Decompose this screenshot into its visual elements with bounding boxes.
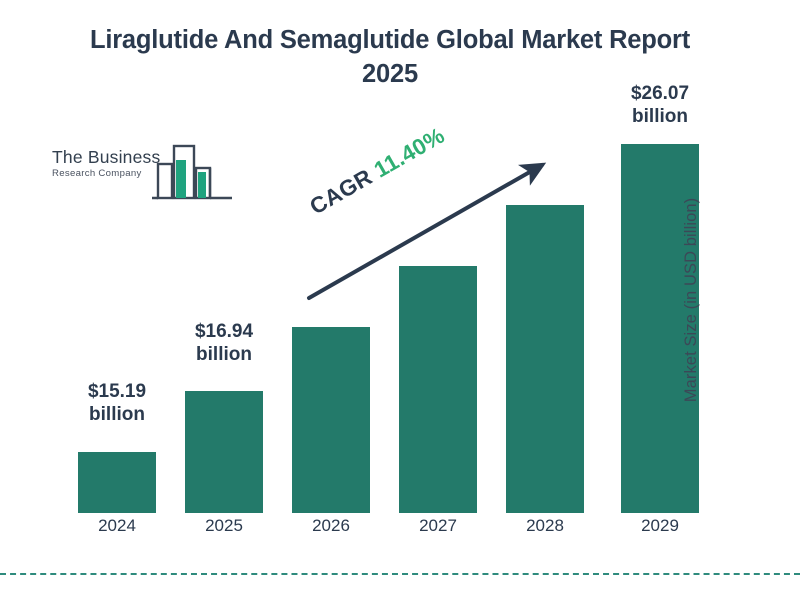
bar-2027[interactable] <box>399 266 477 513</box>
bar-value-label-2025: $16.94 billion <box>164 320 284 366</box>
footer-divider <box>0 573 800 575</box>
bar-2024[interactable] <box>78 452 156 513</box>
chart-canvas: Liraglutide And Semaglutide Global Marke… <box>0 0 800 600</box>
bar-value-label-2024: $15.19 billion <box>57 380 177 426</box>
cagr-value: 11.40% <box>370 123 449 183</box>
bar-2028[interactable] <box>506 205 584 513</box>
bar-2025[interactable] <box>185 391 263 513</box>
x-tick-2027: 2027 <box>398 516 478 536</box>
cagr-label: CAGR <box>306 164 377 219</box>
x-tick-2024: 2024 <box>77 516 157 536</box>
bar-2026[interactable] <box>292 327 370 513</box>
x-tick-2028: 2028 <box>505 516 585 536</box>
cagr-annotation: CAGR 11.40% <box>306 123 450 221</box>
y-axis-title: Market Size (in USD billion) <box>682 198 701 403</box>
x-tick-2025: 2025 <box>184 516 264 536</box>
bar-value-label-2029: $26.07 billion <box>600 82 720 128</box>
plot-area: $15.19 billion $16.94 billion $26.07 bil… <box>0 0 800 600</box>
x-tick-2029: 2029 <box>620 516 700 536</box>
x-tick-2026: 2026 <box>291 516 371 536</box>
